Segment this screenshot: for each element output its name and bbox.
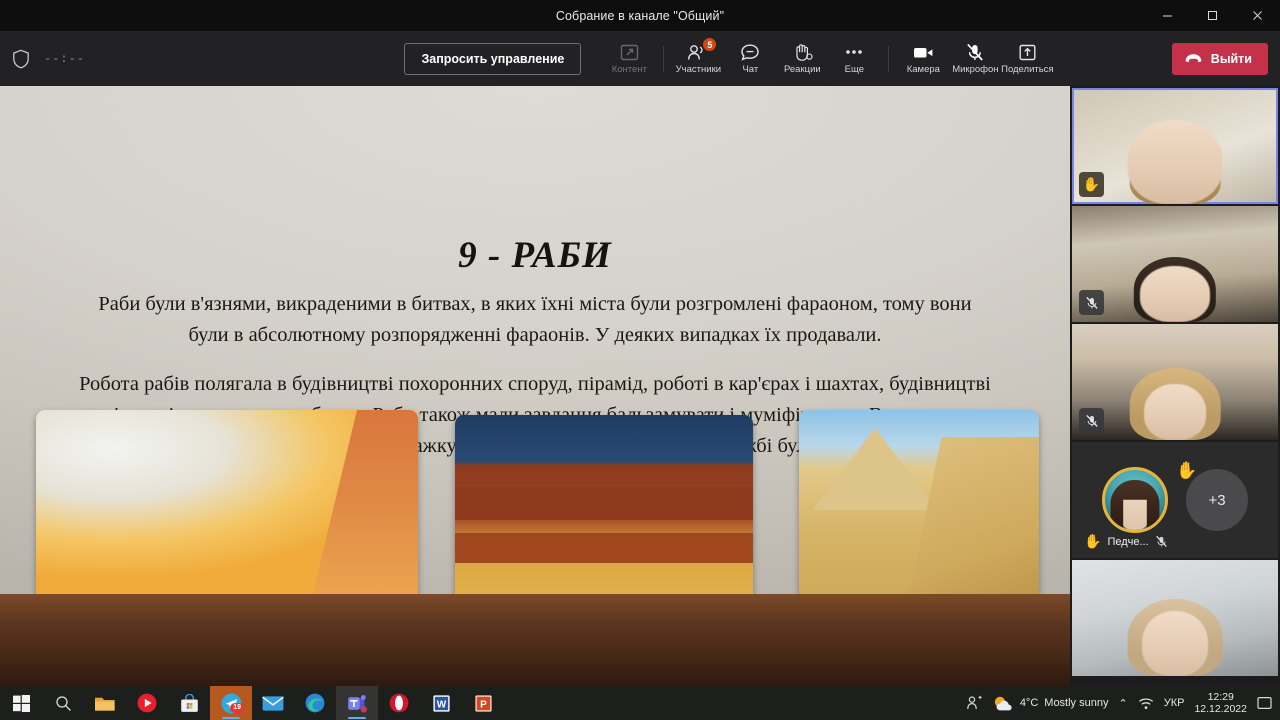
file-explorer-icon[interactable] [84, 686, 126, 720]
teams-glyph-icon [347, 694, 368, 713]
toolbar-item-participants[interactable]: 5 Участники [672, 31, 724, 86]
microsoft-teams-icon[interactable] [336, 686, 378, 720]
toolbar-item-camera[interactable]: Камера [897, 31, 949, 86]
microsoft-word-icon[interactable]: W [420, 686, 462, 720]
toolbar-item-microphone-label: Микрофон [952, 64, 998, 75]
participant-video-3[interactable] [1072, 324, 1278, 440]
taskbar-tray: 4°C Mostly sunny ⌃ УКР 12:29 12.12.2022 [966, 691, 1280, 715]
muted-mic-badge-2 [1079, 408, 1104, 433]
participants-count-badge: 5 [702, 37, 717, 52]
youtube-music-icon[interactable] [126, 686, 168, 720]
participant-video-1[interactable]: ✋ [1072, 88, 1278, 204]
powerpoint-glyph-icon: P [474, 694, 493, 713]
avatar-raised-hand-icon: ✋ [1084, 533, 1101, 550]
toolbar-item-reactions-label: Реакции [784, 64, 821, 75]
leave-button[interactable]: Выйти [1172, 43, 1268, 75]
clock-date: 12.12.2022 [1194, 703, 1247, 715]
avatar-meta: ✋ Педче... [1084, 533, 1168, 550]
avatar [1102, 467, 1168, 533]
telegram-icon[interactable]: 19 [210, 686, 252, 720]
toolbar-right-group: Выйти [1158, 43, 1280, 75]
notification-icon[interactable] [1257, 696, 1272, 710]
presenter-name-chip: Швайка Валерія Вячеславівна [10, 656, 176, 676]
participant-avatar-tile[interactable]: ✋ +3 ✋ Педче... [1072, 442, 1278, 558]
toolbar-center-group: Запросить управление Контент 5 Участники [300, 31, 1158, 86]
toolbar-divider [663, 46, 664, 72]
window-title-bar: Собрание в канале "Общий" [0, 0, 1280, 31]
search-icon[interactable] [42, 686, 84, 720]
people-icon: 5 [687, 42, 709, 62]
pyramid-construction-painting [799, 410, 1039, 635]
mic-muted-icon [1085, 414, 1099, 428]
microsoft-edge-icon[interactable] [294, 686, 336, 720]
microsoft-store-icon[interactable] [168, 686, 210, 720]
share-tray-icon [1018, 42, 1037, 62]
overflow-participants-circle[interactable]: ✋ +3 [1186, 469, 1248, 531]
people-share-icon[interactable] [966, 695, 983, 711]
toolbar-item-chat-label: Чат [742, 64, 758, 75]
toolbar-item-camera-label: Камера [907, 64, 940, 75]
slide-title: 9 - РАБИ [0, 234, 1070, 277]
folder-glyph-icon [94, 694, 116, 713]
start-button[interactable] [0, 686, 42, 720]
opera-glyph-icon [389, 693, 409, 713]
toolbar-item-reactions[interactable]: Реакции [776, 31, 828, 86]
leave-button-label: Выйти [1211, 52, 1252, 66]
maximize-button[interactable] [1190, 0, 1235, 31]
close-button[interactable] [1235, 0, 1280, 31]
hangup-icon [1184, 52, 1203, 66]
toolbar-item-share[interactable]: Поделиться [1001, 31, 1053, 86]
slaves-building-pyramid-illustration [455, 415, 753, 626]
window-controls [1145, 0, 1280, 31]
shared-content-stage[interactable]: 9 - РАБИ Раби були в'язнями, викраденими… [0, 86, 1070, 686]
windows-taskbar: 19 W P [0, 686, 1280, 720]
avatar-name-label: Педче... [1107, 536, 1148, 548]
slide-images [0, 410, 1070, 642]
sun-cloud-icon [993, 695, 1014, 712]
clock[interactable]: 12:29 12.12.2022 [1194, 691, 1247, 715]
camera-icon [912, 42, 935, 62]
raised-hand-badge: ✋ [1079, 172, 1104, 197]
weather-temperature: 4°C [1020, 697, 1038, 709]
avatar-muted-mic-icon [1155, 535, 1168, 548]
slaves-pulling-rope-illustration [36, 410, 418, 627]
powerpoint-icon[interactable]: P [462, 686, 504, 720]
word-glyph-icon: W [432, 694, 451, 713]
request-control-button[interactable]: Запросить управление [404, 43, 581, 75]
telegram-unread-badge: 19 [230, 703, 244, 713]
microphone-muted-icon [965, 42, 985, 62]
windows-logo-icon [13, 695, 30, 712]
taskbar-apps: 19 W P [0, 686, 504, 720]
participant-video-4[interactable] [1072, 560, 1278, 676]
avatar-wrapper [1102, 467, 1168, 533]
toolbar-item-microphone[interactable]: Микрофон [949, 31, 1001, 86]
shield-icon[interactable] [12, 49, 30, 69]
youtube-music-glyph-icon [137, 693, 157, 713]
weather-widget[interactable]: 4°C Mostly sunny [993, 695, 1109, 712]
window-title: Собрание в канале "Общий" [556, 9, 724, 23]
search-glyph-icon [55, 695, 72, 712]
edge-glyph-icon [305, 693, 325, 713]
participant-video-2[interactable] [1072, 206, 1278, 322]
windows-activation-watermark: Активация Windows Чтобы активировать Win… [610, 595, 984, 644]
toolbar-item-content-label: Контент [612, 64, 647, 75]
content-share-icon [620, 42, 639, 62]
svg-text:W: W [436, 699, 446, 710]
presentation-slide: 9 - РАБИ Раби були в'язнями, викраденими… [0, 86, 1070, 686]
maximize-icon [1207, 10, 1218, 21]
close-icon [1252, 10, 1263, 21]
toolbar-item-share-label: Поделиться [1001, 64, 1053, 75]
opera-icon[interactable] [378, 686, 420, 720]
svg-text:P: P [480, 699, 487, 710]
mail-icon[interactable] [252, 686, 294, 720]
reactions-hand-icon [792, 42, 813, 62]
toolbar-left-group: --:-- [0, 49, 300, 69]
clock-time: 12:29 [1194, 691, 1247, 703]
activation-line-2: Чтобы активировать Windows, перейдите в … [610, 625, 984, 644]
meeting-toolbar: --:-- Запросить управление Контент 5 Уча… [0, 31, 1280, 86]
mail-glyph-icon [262, 695, 284, 712]
wifi-icon[interactable] [1138, 697, 1154, 710]
overflow-raised-hand-icon: ✋ [1176, 461, 1197, 481]
tray-chevron-up-icon[interactable]: ⌃ [1118, 697, 1127, 710]
mic-muted-icon [1085, 296, 1099, 310]
language-indicator[interactable]: УКР [1164, 697, 1185, 709]
toolbar-item-more[interactable]: Еще [828, 31, 880, 86]
store-bag-glyph-icon [180, 694, 199, 713]
slide-paragraph-1: Раби були в'язнями, викраденими в битвах… [78, 289, 992, 351]
toolbar-item-content[interactable]: Контент [603, 31, 655, 86]
meeting-timer: --:-- [44, 52, 85, 66]
weather-description: Mostly sunny [1044, 697, 1108, 709]
more-ellipsis-icon [843, 42, 865, 62]
muted-mic-badge [1079, 290, 1104, 315]
overflow-count-label: +3 [1208, 492, 1225, 509]
chat-icon [740, 42, 760, 62]
teams-meeting-window: Собрание в канале "Общий" --:-- Запросит… [0, 0, 1280, 720]
minimize-button[interactable] [1145, 0, 1190, 31]
toolbar-item-participants-label: Участники [676, 64, 721, 75]
toolbar-divider-2 [888, 46, 889, 72]
toolbar-item-more-label: Еще [845, 64, 864, 75]
toolbar-item-chat[interactable]: Чат [724, 31, 776, 86]
minimize-icon [1162, 10, 1173, 21]
participants-filmstrip: ✋ ✋ +3 [1070, 86, 1280, 686]
activation-line-1: Активация Windows [610, 595, 984, 625]
